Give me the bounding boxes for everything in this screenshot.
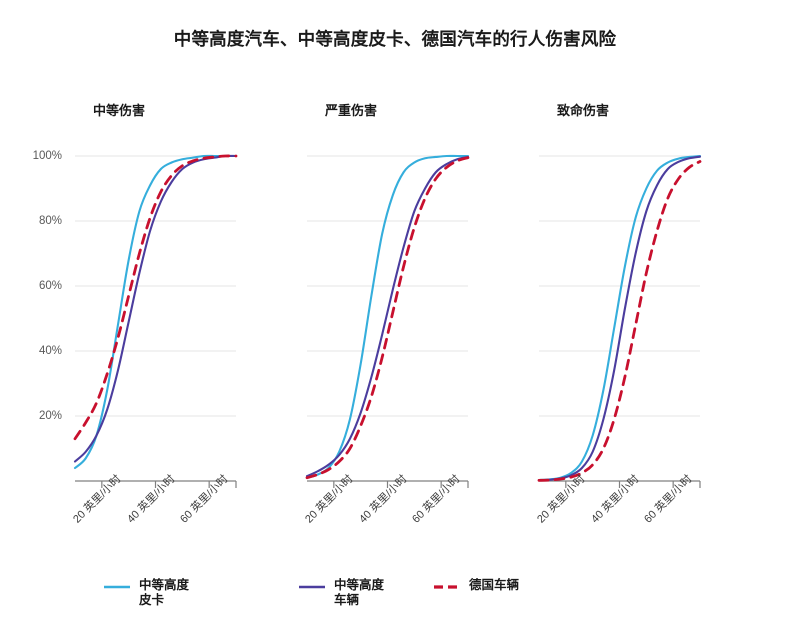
legend-swatch <box>299 580 325 594</box>
legend-item[interactable]: 中等高度皮卡 <box>104 578 201 608</box>
legend-swatch <box>104 580 130 594</box>
plot-area-svg <box>0 0 790 639</box>
series-line <box>539 162 700 481</box>
chart-legend: 中等高度皮卡中等高度车辆德国车辆 <box>104 578 534 626</box>
series-line <box>307 157 468 476</box>
legend-swatch <box>434 580 460 594</box>
legend-label: 中等高度车辆 <box>334 578 396 608</box>
series-line <box>75 156 236 468</box>
legend-label: 德国车辆 <box>469 578 559 593</box>
series-line <box>307 158 468 478</box>
legend-label: 中等高度皮卡 <box>139 578 201 608</box>
series-line <box>307 156 468 478</box>
series-line <box>75 156 236 439</box>
pedestrian-injury-risk-chart: 中等高度汽车、中等高度皮卡、德国汽车的行人伤害风险 中等伤害严重伤害致命伤害 2… <box>0 0 790 639</box>
legend-item[interactable]: 中等高度车辆 <box>299 578 396 608</box>
series-line <box>539 157 700 481</box>
legend-item[interactable]: 德国车辆 <box>434 578 559 594</box>
series-line <box>539 156 700 480</box>
